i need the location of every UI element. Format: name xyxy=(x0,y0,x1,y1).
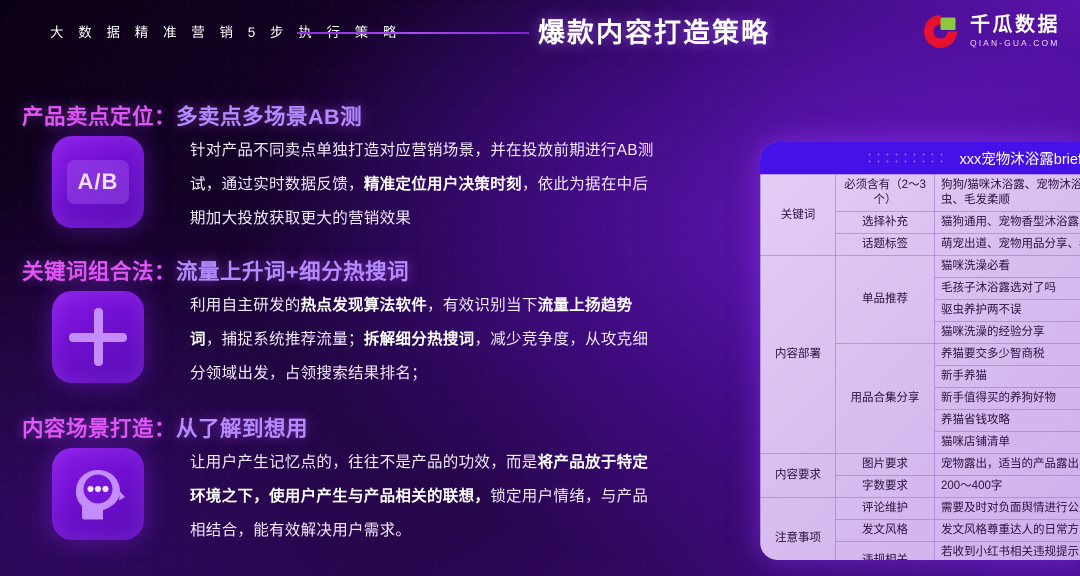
brief-value-cell: 驱虫养护两不误 xyxy=(935,300,1080,322)
block-1-title-main: 产品卖点定位： xyxy=(22,105,176,129)
block-2-body: 利用自主研发的热点发现算法软件，有效识别当下流量上扬趋势词，捕捉系统推荐流量；拆… xyxy=(190,289,660,391)
brief-value-cell: 200～400字 xyxy=(935,476,1080,498)
brief-subcategory-cell: 字数要求 xyxy=(836,476,935,498)
brief-value-cell: 猫咪店铺清单 xyxy=(935,432,1080,454)
brief-value-cell: 发文风格尊重达人的日常方向，容更容易触达转化 xyxy=(935,520,1080,542)
plus-icon xyxy=(52,291,144,383)
slide-canvas: 大 数 据 精 准 营 销 5 步 执 行 策 略 爆款内容打造策略 千瓜数据 … xyxy=(0,0,1080,576)
block-3-title-sub: 从了解到想用 xyxy=(176,417,308,441)
block-3-title: 内容场景打造：从了解到想用 xyxy=(22,412,308,443)
brief-subcategory-cell: 用品合集分享 xyxy=(836,344,935,454)
header-tagline: 大 数 据 精 准 营 销 5 步 执 行 策 略 xyxy=(50,21,402,41)
brief-value-cell: 养猫要交多少智商税 xyxy=(935,344,1080,366)
brief-value-cell: 若收到小红书相关违规提示或者要联系达人及时对笔记进行调整布 xyxy=(935,542,1080,561)
table-row: 内容要求图片要求宠物露出，适当的产品露出，天 xyxy=(761,454,1080,476)
brief-subcategory-cell: 选择补充 xyxy=(836,212,935,234)
brief-subcategory-cell: 必须含有（2～3个） xyxy=(836,175,935,212)
brief-value-cell: 萌宠出道、宠物用品分享、我家 xyxy=(935,234,1080,256)
block-3-body: 让用户产生记忆点的，往往不是产品的功效，而是将产品放于特定环境之下，使用户产生与… xyxy=(190,446,660,548)
ab-test-icon-label: A/B xyxy=(67,160,129,204)
table-row: 关键词必须含有（2～3个）狗狗/猫咪沐浴露、宠物沐浴露、宠物沐浴清洁、驱虫、毛发… xyxy=(761,175,1080,212)
brief-table: 关键词必须含有（2～3个）狗狗/猫咪沐浴露、宠物沐浴露、宠物沐浴清洁、驱虫、毛发… xyxy=(760,174,1080,560)
brand-name-cn: 千瓜数据 xyxy=(970,15,1060,35)
brief-value-cell: 宠物露出，适当的产品露出，天 xyxy=(935,454,1080,476)
brief-subcategory-cell: 评论维护 xyxy=(836,498,935,520)
block-2-title-sub: 流量上升词+细分热搜词 xyxy=(176,260,409,284)
qiangua-logo-icon xyxy=(920,11,961,52)
brief-table-header-bar: xxx宠物沐浴露brief xyxy=(760,142,1080,174)
brief-value-cell: 养猫省钱攻略 xyxy=(935,410,1080,432)
brief-value-cell: 新手养猫 xyxy=(935,366,1080,388)
decorative-dots xyxy=(865,151,945,165)
block-1-body: 针对产品不同卖点单独打造对应营销场景，并在投放前期进行AB测试，通过实时数据反馈… xyxy=(190,134,660,236)
brief-subcategory-cell: 发文风格 xyxy=(836,520,935,542)
brand-logo: 千瓜数据 QIAN-GUA.COM xyxy=(920,11,1060,52)
brief-table-title: xxx宠物沐浴露brief xyxy=(960,148,1080,169)
table-row: 内容部署单品推荐猫咪洗澡必看 xyxy=(761,256,1080,278)
block-1-title: 产品卖点定位：多卖点多场景AB测 xyxy=(22,100,362,131)
brief-value-cell: 需要及时对负面舆情进行公关，引流工作 xyxy=(935,498,1080,520)
head-thought-icon xyxy=(52,448,144,540)
block-1-title-sub: 多卖点多场景AB测 xyxy=(176,105,362,129)
brief-value-cell: 新手值得买的养狗好物 xyxy=(935,388,1080,410)
brief-category-cell: 注意事项 xyxy=(761,498,836,561)
brief-subcategory-cell: 单品推荐 xyxy=(836,256,935,344)
brief-table-card: xxx宠物沐浴露brief 关键词必须含有（2～3个）狗狗/猫咪沐浴露、宠物沐浴… xyxy=(760,142,1080,560)
brief-category-cell: 内容部署 xyxy=(761,256,836,454)
brand-logo-text: 千瓜数据 QIAN-GUA.COM xyxy=(970,15,1060,48)
brand-name-en: QIAN-GUA.COM xyxy=(970,39,1060,48)
ab-test-icon: A/B xyxy=(52,136,144,228)
header-divider-rule xyxy=(297,32,529,34)
brief-value-cell: 猫狗通用、宠物香型沐浴露、宠 xyxy=(935,212,1080,234)
block-3-title-main: 内容场景打造： xyxy=(22,417,176,441)
brief-subcategory-cell: 违规相关 xyxy=(836,542,935,561)
brief-subcategory-cell: 话题标签 xyxy=(836,234,935,256)
plus-icon-glyph xyxy=(69,308,127,366)
brief-subcategory-cell: 图片要求 xyxy=(836,454,935,476)
block-2-title: 关键词组合法：流量上升词+细分热搜词 xyxy=(22,255,409,286)
brief-value-cell: 猫咪洗澡必看 xyxy=(935,256,1080,278)
brief-value-cell: 狗狗/猫咪沐浴露、宠物沐浴露、宠物沐浴清洁、驱虫、毛发柔顺 xyxy=(935,175,1080,212)
brief-category-cell: 内容要求 xyxy=(761,454,836,498)
brief-value-cell: 毛孩子沐浴露选对了吗 xyxy=(935,278,1080,300)
slide-header: 大 数 据 精 准 营 销 5 步 执 行 策 略 爆款内容打造策略 千瓜数据 … xyxy=(0,0,1080,62)
table-row: 注意事项评论维护需要及时对负面舆情进行公关，引流工作 xyxy=(761,498,1080,520)
page-title: 爆款内容打造策略 xyxy=(538,11,770,50)
brief-category-cell: 关键词 xyxy=(761,175,836,256)
block-2-title-main: 关键词组合法： xyxy=(22,260,176,284)
brief-value-cell: 猫咪洗澡的经验分享 xyxy=(935,322,1080,344)
